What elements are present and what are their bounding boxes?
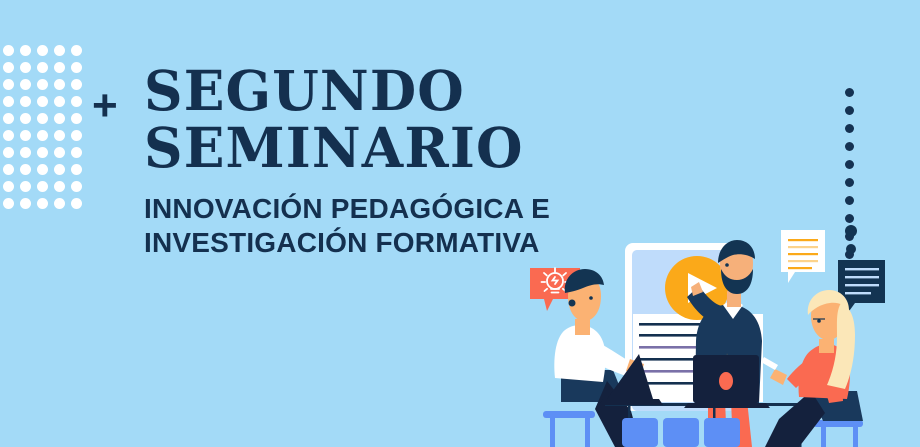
grid-dot [20,198,31,209]
grid-dot [37,113,48,124]
grid-dot [71,62,82,73]
grid-dot [37,79,48,90]
dot-grid-decoration [0,45,88,215]
grid-dot [20,79,31,90]
grid-dot [20,147,31,158]
grid-dot [20,62,31,73]
column-dot [845,106,854,115]
column-dot [845,88,854,97]
column-dot [845,160,854,169]
grid-dot [54,164,65,175]
grid-dot [71,130,82,141]
page-title-line-2: SEMINARIO [144,119,524,176]
grid-dot [54,62,65,73]
grid-dot [71,79,82,90]
grid-dot [3,45,14,56]
subtitle-line-1: INNOVACIÓN PEDAGÓGICA E [144,192,550,226]
grid-dot [20,181,31,192]
grid-dot [20,130,31,141]
grid-dot [54,147,65,158]
grid-dot [71,113,82,124]
grid-dot [3,147,14,158]
column-dot [845,178,854,187]
grid-dot [37,96,48,107]
grid-dot [3,164,14,175]
grid-dot [20,45,31,56]
grid-dot [37,198,48,209]
grid-dot [37,130,48,141]
grid-dot [71,164,82,175]
grid-dot [20,164,31,175]
grid-dot [37,45,48,56]
page-title-line-1: SEGUNDO [144,62,524,119]
column-dot [845,142,854,151]
chart-bars [622,418,740,447]
grid-dot [71,198,82,209]
grid-dot [3,96,14,107]
grid-dot [3,130,14,141]
grid-dot [37,62,48,73]
grid-dot [54,45,65,56]
grid-dot [71,181,82,192]
column-dot [845,124,854,133]
grid-dot [54,181,65,192]
grid-dot [20,96,31,107]
column-dot [845,196,854,205]
subtitle-line-2: INVESTIGACIÓN FORMATIVA [144,226,550,260]
grid-dot [54,79,65,90]
seminar-scene-illustration [495,215,920,447]
grid-dot [3,62,14,73]
grid-dot [3,181,14,192]
grid-dot [71,147,82,158]
seminar-banner: + SEGUNDO SEMINARIO INNOVACIÓN PEDAGÓGIC… [0,0,920,447]
chat-bubble-dots [845,225,857,254]
grid-dot [37,147,48,158]
grid-dot [3,113,14,124]
grid-dot [54,113,65,124]
grid-dot [37,181,48,192]
grid-dot [54,198,65,209]
grid-dot [37,164,48,175]
document-speech-bubble [781,230,825,283]
laptop-center [684,355,770,408]
subtitle-block: INNOVACIÓN PEDAGÓGICA E INVESTIGACIÓN FO… [144,192,550,260]
seated-woman [761,290,863,447]
grid-dot [54,96,65,107]
grid-dot [54,130,65,141]
plus-mark: + [92,84,118,128]
grid-dot [71,45,82,56]
headline-block: + SEGUNDO SEMINARIO [92,62,535,176]
grid-dot [20,113,31,124]
grid-dot [71,96,82,107]
grid-dot [3,198,14,209]
grid-dot [3,79,14,90]
